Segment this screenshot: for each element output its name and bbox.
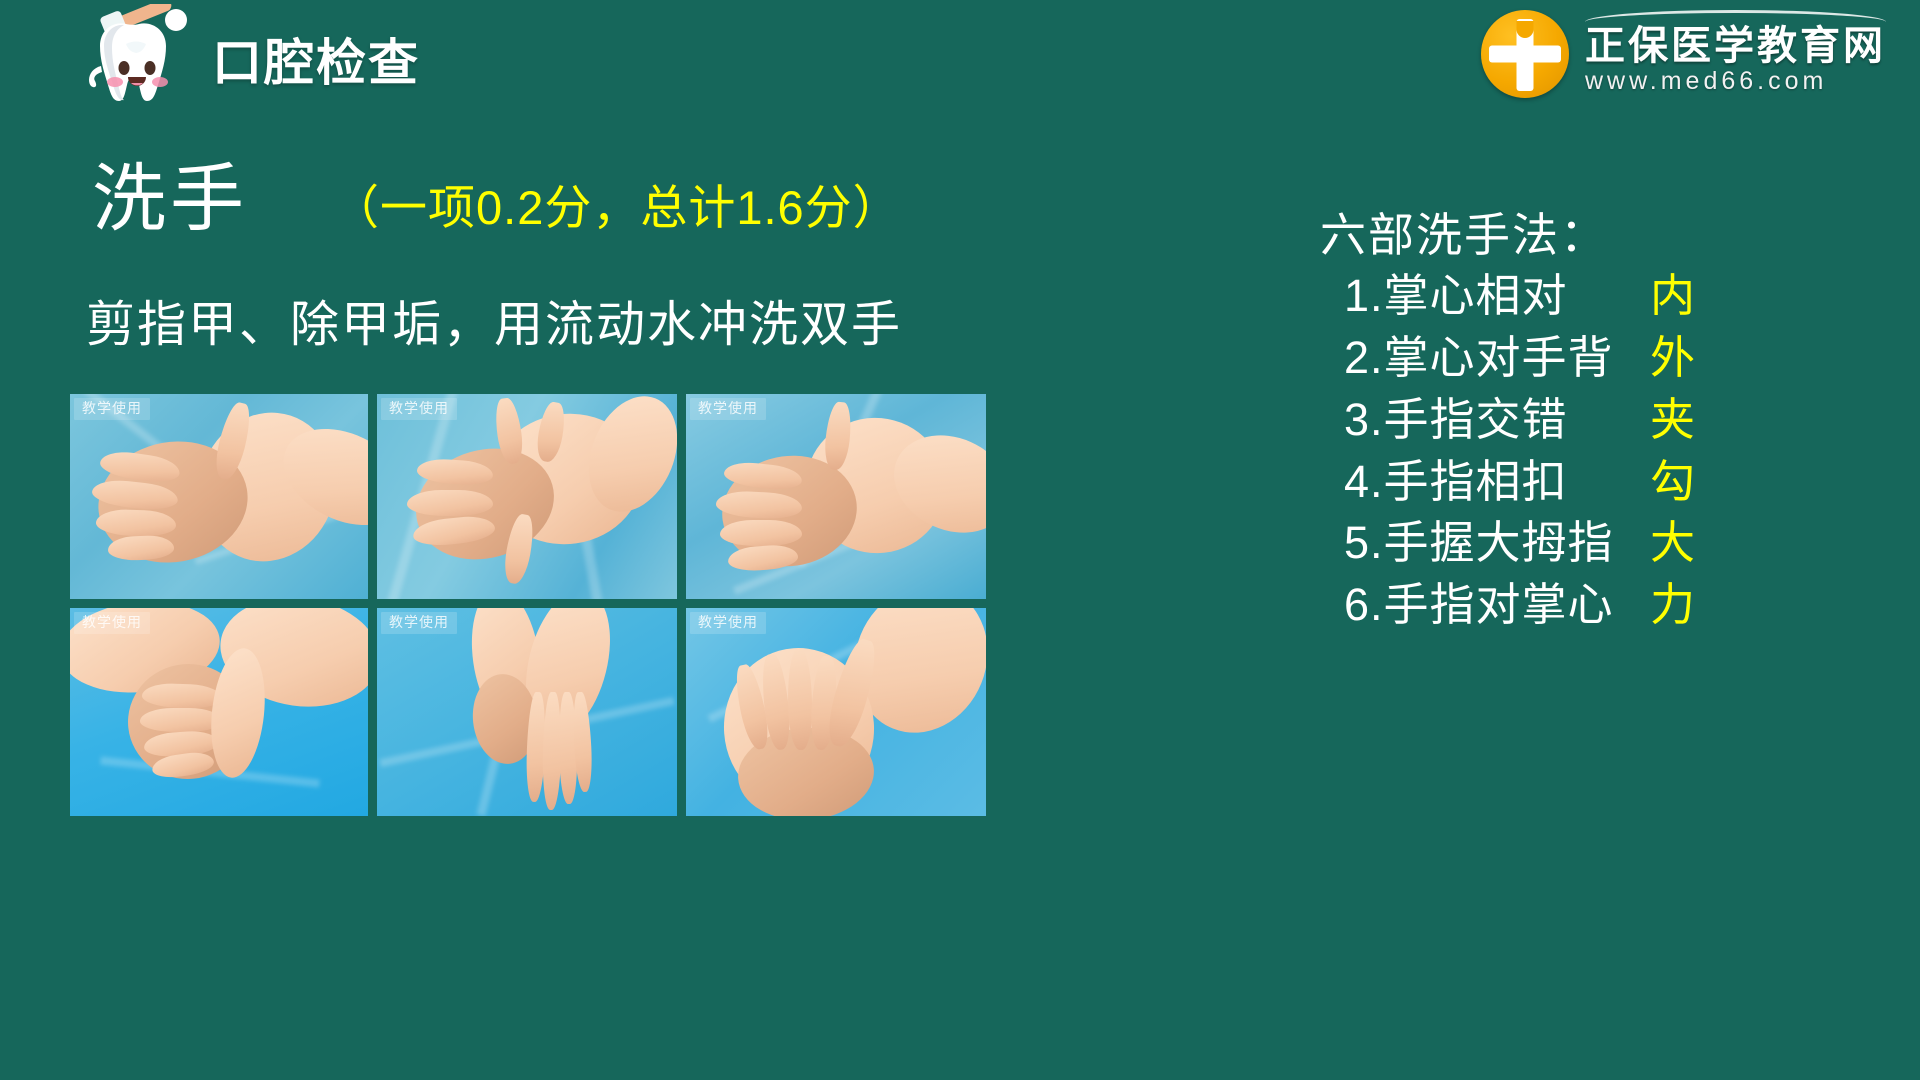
photo-step-4: 教学使用 xyxy=(70,608,368,816)
photo-watermark: 教学使用 xyxy=(74,612,150,634)
method-step-5: 5.手握大拇指 大 xyxy=(1320,515,1695,571)
method-panel: 六部洗手法： 1.掌心相对 内 2.掌心对手背 外 3.手指交错 夹 4.手指相… xyxy=(1320,208,1695,633)
photo-step-6: 教学使用 xyxy=(686,608,986,816)
brand-header-right: 正保医学教育网 www.med66.com xyxy=(1481,10,1886,98)
method-step-label: 5.手握大拇指 xyxy=(1320,515,1650,571)
method-step-key: 大 xyxy=(1650,515,1695,571)
logo-name-cn: 正保医学教育网 xyxy=(1585,25,1886,67)
orange-cross-circle-icon xyxy=(1481,10,1569,98)
method-step-label: 3.手指交错 xyxy=(1320,392,1650,448)
tooth-with-toothbrush-icon xyxy=(68,4,198,122)
method-step-2: 2.掌心对手背 外 xyxy=(1320,330,1695,386)
brand-title: 口腔检查 xyxy=(212,38,420,88)
photo-step-3: 教学使用 xyxy=(686,394,986,599)
method-step-label: 6.手指对掌心 xyxy=(1320,577,1650,633)
brand-header-left: 口腔检查 xyxy=(68,4,420,122)
score-note: （一项0.2分，总计1.6分） xyxy=(332,184,901,231)
method-step-key: 夹 xyxy=(1650,392,1695,448)
logo-arc-decoration xyxy=(1585,10,1886,22)
med-logo-wordmark: 正保医学教育网 www.med66.com xyxy=(1585,14,1886,94)
photo-step-5: 教学使用 xyxy=(377,608,677,816)
page-title-row: 洗手 （一项0.2分，总计1.6分） xyxy=(92,162,901,236)
photo-watermark: 教学使用 xyxy=(74,398,150,420)
method-step-label: 4.手指相扣 xyxy=(1320,454,1650,510)
slide-root: 口腔检查 正保医学教育网 www.med66.com 洗手 （一项0.2分，总计… xyxy=(0,0,1920,1080)
method-step-3: 3.手指交错 夹 xyxy=(1320,392,1695,448)
photo-watermark: 教学使用 xyxy=(381,612,457,634)
method-step-label: 1.掌心相对 xyxy=(1320,268,1650,324)
page-title: 洗手 xyxy=(92,162,248,236)
handwash-photo-grid: 教学使用 教学使用 xyxy=(70,394,986,816)
method-step-key: 勾 xyxy=(1650,454,1695,510)
method-step-label: 2.掌心对手背 xyxy=(1320,330,1650,386)
method-step-key: 外 xyxy=(1650,330,1695,386)
method-panel-heading: 六部洗手法： xyxy=(1320,208,1695,262)
photo-step-1: 教学使用 xyxy=(70,394,368,599)
photo-step-2: 教学使用 xyxy=(377,394,677,599)
method-step-key: 内 xyxy=(1650,268,1695,324)
photo-watermark: 教学使用 xyxy=(690,612,766,634)
photo-watermark: 教学使用 xyxy=(381,398,457,420)
method-step-4: 4.手指相扣 勾 xyxy=(1320,454,1695,510)
method-step-key: 力 xyxy=(1650,577,1695,633)
method-step-6: 6.手指对掌心 力 xyxy=(1320,577,1695,633)
photo-watermark: 教学使用 xyxy=(690,398,766,420)
logo-url: www.med66.com xyxy=(1585,69,1886,94)
page-subtitle: 剪指甲、除甲垢，用流动水冲洗双手 xyxy=(86,285,902,356)
method-step-1: 1.掌心相对 内 xyxy=(1320,268,1695,324)
